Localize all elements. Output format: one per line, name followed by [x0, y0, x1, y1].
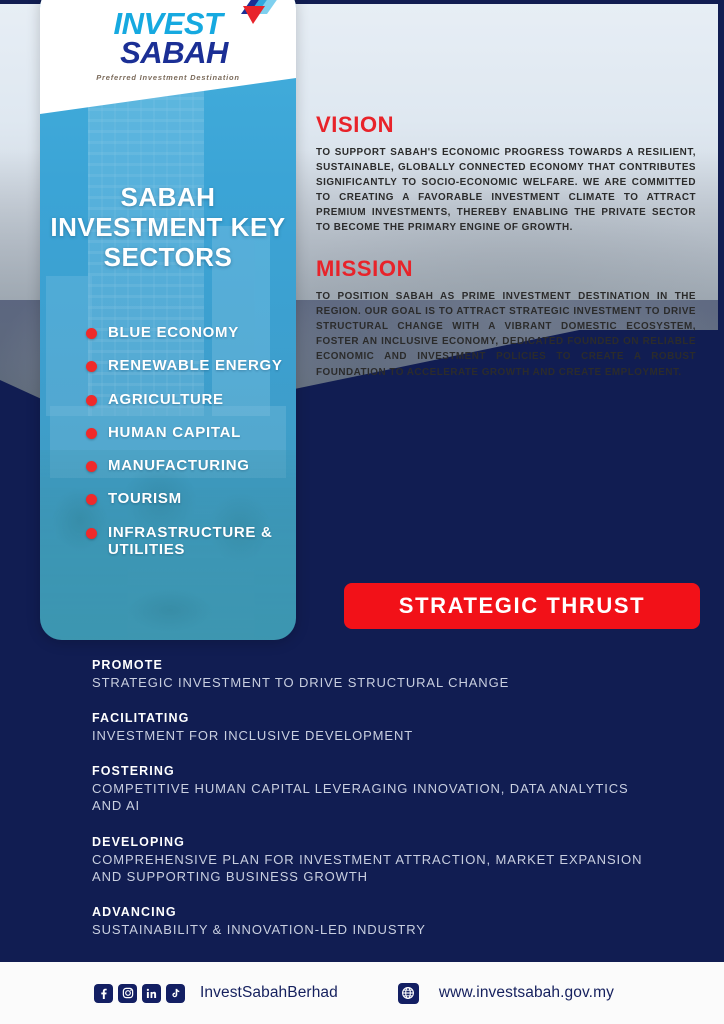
bullet-dot-icon	[86, 428, 97, 439]
social-handle[interactable]: InvestSabahBerhad	[200, 984, 338, 1002]
sector-list: BLUE ECONOMY RENEWABLE ENERGY AGRICULTUR…	[86, 324, 296, 574]
bullet-dot-icon	[86, 461, 97, 472]
thrust-term: ADVANCING	[92, 905, 652, 919]
globe-icon	[398, 983, 419, 1004]
bullet-dot-icon	[86, 328, 97, 339]
linkedin-icon[interactable]	[142, 984, 161, 1003]
sector-item[interactable]: TOURISM	[86, 490, 296, 507]
thrust-term: FACILITATING	[92, 711, 652, 725]
sector-label: BLUE ECONOMY	[108, 324, 239, 341]
sector-item[interactable]: AGRICULTURE	[86, 391, 296, 408]
sector-label: TOURISM	[108, 490, 182, 507]
tiktok-icon[interactable]	[166, 984, 185, 1003]
thrust-item: FACILITATING INVESTMENT FOR INCLUSIVE DE…	[92, 711, 652, 744]
thrust-description: COMPETITIVE HUMAN CAPITAL LEVERAGING INN…	[92, 780, 652, 814]
thrust-description: SUSTAINABILITY & INNOVATION-LED INDUSTRY	[92, 921, 652, 938]
sector-item[interactable]: BLUE ECONOMY	[86, 324, 296, 341]
vision-mission-block: VISION TO SUPPORT SABAH'S ECONOMIC PROGR…	[316, 112, 696, 380]
bullet-dot-icon	[86, 494, 97, 505]
thrust-term: FOSTERING	[92, 764, 652, 778]
thrust-item: ADVANCING SUSTAINABILITY & INNOVATION-LE…	[92, 905, 652, 938]
bullet-dot-icon	[86, 361, 97, 372]
sector-item[interactable]: INFRASTRUCTURE & UTILITIES	[86, 524, 296, 559]
sector-label: AGRICULTURE	[108, 391, 224, 408]
bullet-dot-icon	[86, 528, 97, 539]
thrust-item: PROMOTE STRATEGIC INVESTMENT TO DRIVE ST…	[92, 658, 652, 691]
bullet-dot-icon	[86, 395, 97, 406]
card-title: SABAH INVESTMENT KEY SECTORS	[40, 182, 296, 272]
strategic-thrust-banner: STRATEGIC THRUST	[344, 583, 700, 629]
mission-body: TO POSITION SABAH AS PRIME INVESTMENT DE…	[316, 289, 696, 379]
key-sectors-card: INVEST SABAH Preferred Investment Destin…	[40, 0, 296, 640]
sector-item[interactable]: RENEWABLE ENERGY	[86, 357, 296, 374]
social-links: InvestSabahBerhad	[94, 984, 338, 1003]
thrust-description: COMPREHENSIVE PLAN FOR INVESTMENT ATTRAC…	[92, 851, 652, 885]
thrust-item: DEVELOPING COMPREHENSIVE PLAN FOR INVEST…	[92, 835, 652, 885]
thrust-description: STRATEGIC INVESTMENT TO DRIVE STRUCTURAL…	[92, 674, 652, 691]
strategic-thrust-list: PROMOTE STRATEGIC INVESTMENT TO DRIVE ST…	[92, 658, 652, 958]
invest-sabah-arrow-mark-icon	[225, 0, 281, 40]
facebook-icon[interactable]	[94, 984, 113, 1003]
poster: INVEST SABAH Preferred Investment Destin…	[0, 0, 724, 1024]
logo-tagline: Preferred Investment Destination	[40, 73, 296, 82]
navy-right-edge	[718, 0, 724, 640]
thrust-description: INVESTMENT FOR INCLUSIVE DEVELOPMENT	[92, 727, 652, 744]
footer-bar: InvestSabahBerhad www.investsabah.gov.my	[0, 962, 724, 1024]
sector-label: HUMAN CAPITAL	[108, 424, 241, 441]
mission-section: MISSION TO POSITION SABAH AS PRIME INVES…	[316, 256, 696, 379]
vision-heading: VISION	[316, 112, 696, 138]
logo-sabah-text: SABAH	[52, 37, 296, 68]
sector-label: INFRASTRUCTURE & UTILITIES	[108, 524, 296, 559]
instagram-icon[interactable]	[118, 984, 137, 1003]
sector-item[interactable]: MANUFACTURING	[86, 457, 296, 474]
sector-label: RENEWABLE ENERGY	[108, 357, 283, 374]
thrust-term: PROMOTE	[92, 658, 652, 672]
vision-section: VISION TO SUPPORT SABAH'S ECONOMIC PROGR…	[316, 112, 696, 235]
thrust-term: DEVELOPING	[92, 835, 652, 849]
vision-body: TO SUPPORT SABAH'S ECONOMIC PROGRESS TOW…	[316, 145, 696, 235]
mission-heading: MISSION	[316, 256, 696, 282]
strategic-thrust-banner-label: STRATEGIC THRUST	[399, 593, 645, 619]
sector-item[interactable]: HUMAN CAPITAL	[86, 424, 296, 441]
thrust-item: FOSTERING COMPETITIVE HUMAN CAPITAL LEVE…	[92, 764, 652, 814]
sector-label: MANUFACTURING	[108, 457, 250, 474]
website-url[interactable]: www.investsabah.gov.my	[439, 984, 614, 1002]
